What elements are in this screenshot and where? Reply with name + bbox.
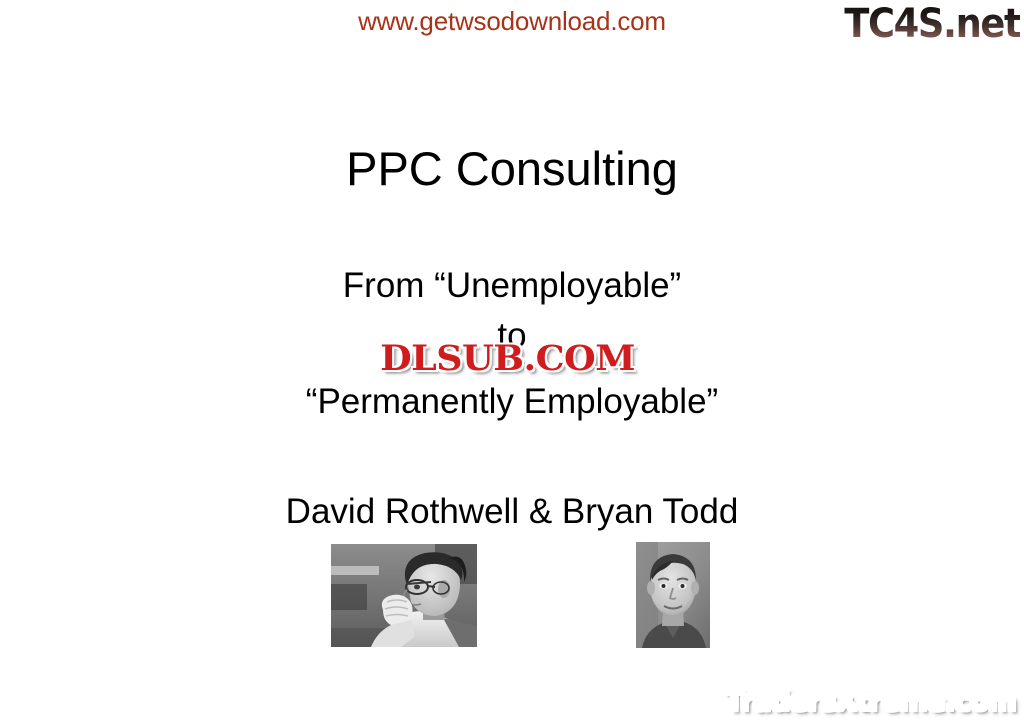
page-title: PPC Consulting xyxy=(0,141,1024,196)
dlsub-logo: DLSUB.COM xyxy=(366,336,650,380)
subtitle-line-from: From “Unemployable” xyxy=(0,266,1024,306)
presentation-slide: www.getwsodownload.com TC4S.net PPC Cons… xyxy=(0,0,1024,724)
tc4s-logo: TC4S.net xyxy=(844,2,1020,46)
subtitle-line-permanently-employable: “Permanently Employable” xyxy=(0,382,1024,422)
portrait-bryan-todd xyxy=(636,542,710,648)
authors-line: David Rothwell & Bryan Todd xyxy=(0,492,1024,532)
dlsub-logo-text: DLSUB.COM xyxy=(381,338,636,379)
portrait-david-rothwell xyxy=(331,544,477,647)
tradersxtreme-logo: TradersXtreme.com xyxy=(725,686,1016,716)
tradersxtreme-logo-text: TradersXtreme.com xyxy=(725,684,1016,717)
portrait-david-rothwell-image xyxy=(331,544,477,647)
portrait-bryan-todd-image xyxy=(636,542,710,648)
